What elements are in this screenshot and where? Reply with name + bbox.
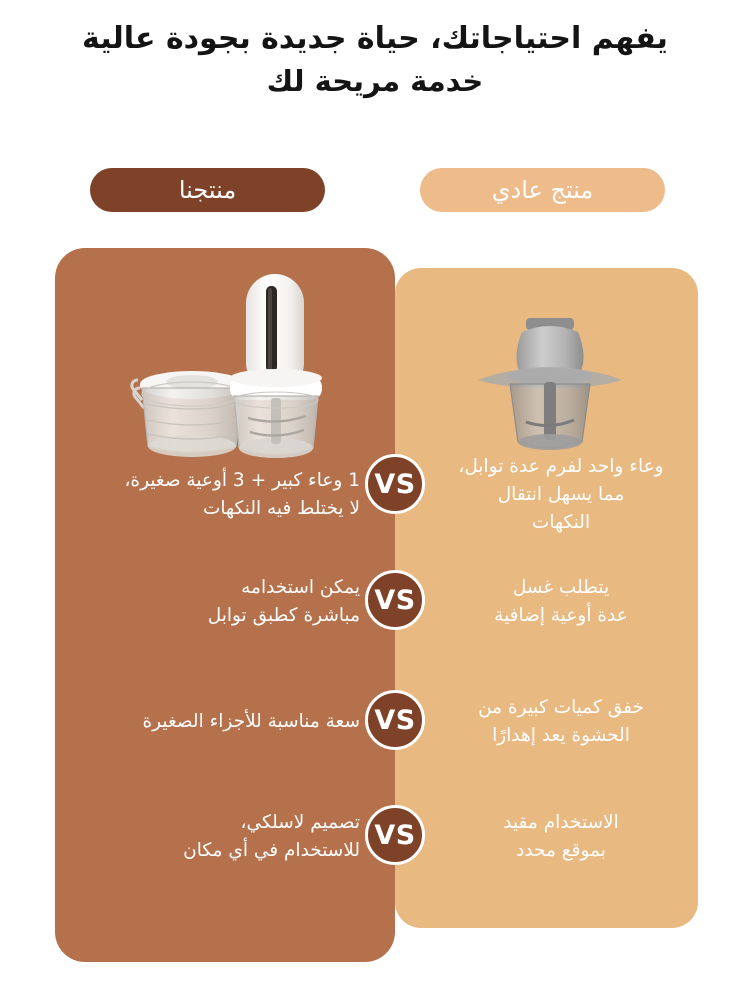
row-text-line: يتطلب غسل <box>432 574 690 602</box>
comparison-row: 1 وعاء كبير + 3 أوعية صغيرة، لا يختلط في… <box>0 440 750 532</box>
vs-label: VS <box>374 469 415 500</box>
row-text-line: 1 وعاء كبير + 3 أوعية صغيرة، <box>81 467 360 495</box>
row-text-line: خفق كميات كبيرة من <box>432 694 690 722</box>
vs-label: VS <box>374 585 415 616</box>
row-our-product-text: يمكن استخدامه مباشرة كطبق توابل <box>75 556 360 648</box>
row-text-line: بموقع محدد <box>432 837 690 865</box>
vs-badge: VS <box>365 805 425 865</box>
vs-label: VS <box>374 820 415 851</box>
row-our-product-text: سعة مناسبة للأجزاء الصغيرة <box>75 676 360 768</box>
badge-our-product: منتجنا <box>90 168 325 212</box>
row-ordinary-product-text: وعاء واحد لفرم عدة توابل، مما يسهل انتقا… <box>432 440 690 550</box>
row-text-line: الحشوة يعد إهدارًا <box>432 722 690 750</box>
row-ordinary-product-text: الاستخدام مقيد بموقع محدد <box>432 791 690 883</box>
page-title-line-1: يفهم احتياجاتك، حياة جديدة بجودة عالية <box>8 18 742 61</box>
vs-label: VS <box>374 705 415 736</box>
row-text-line: النكهات <box>432 509 690 537</box>
row-ordinary-product-text: خفق كميات كبيرة من الحشوة يعد إهدارًا <box>432 676 690 768</box>
row-text-line: الاستخدام مقيد <box>432 809 690 837</box>
row-text-line: يمكن استخدامه <box>81 574 360 602</box>
row-text-line: مما يسهل انتقال <box>432 481 690 509</box>
row-text-line: سعة مناسبة للأجزاء الصغيرة <box>81 708 360 736</box>
row-text-line: وعاء واحد لفرم عدة توابل، <box>432 453 690 481</box>
row-text-line: عدة أوعية إضافية <box>432 602 690 630</box>
row-our-product-text: تصميم لاسلكي، للاستخدام في أي مكان <box>75 791 360 883</box>
row-our-product-text: 1 وعاء كبير + 3 أوعية صغيرة، لا يختلط في… <box>75 440 360 550</box>
badge-ordinary-product-label: منتج عادي <box>492 176 594 204</box>
row-text-line: لا يختلط فيه النكهات <box>81 495 360 523</box>
comparison-row: تصميم لاسلكي، للاستخدام في أي مكان VS ال… <box>0 791 750 883</box>
badge-our-product-label: منتجنا <box>179 176 236 204</box>
row-text-line: تصميم لاسلكي، <box>81 809 360 837</box>
row-text-line: للاستخدام في أي مكان <box>81 837 360 865</box>
comparison-row: سعة مناسبة للأجزاء الصغيرة VS خفق كميات … <box>0 676 750 768</box>
page-title-line-2: خدمة مريحة لك <box>8 61 742 102</box>
vs-badge: VS <box>365 690 425 750</box>
page-title: يفهم احتياجاتك، حياة جديدة بجودة عالية خ… <box>0 18 750 102</box>
badge-ordinary-product: منتج عادي <box>420 168 665 212</box>
vs-badge: VS <box>365 570 425 630</box>
comparison-row: يمكن استخدامه مباشرة كطبق توابل VS يتطلب… <box>0 556 750 648</box>
row-text-line: مباشرة كطبق توابل <box>81 602 360 630</box>
row-ordinary-product-text: يتطلب غسل عدة أوعية إضافية <box>432 556 690 648</box>
vs-badge: VS <box>365 454 425 514</box>
